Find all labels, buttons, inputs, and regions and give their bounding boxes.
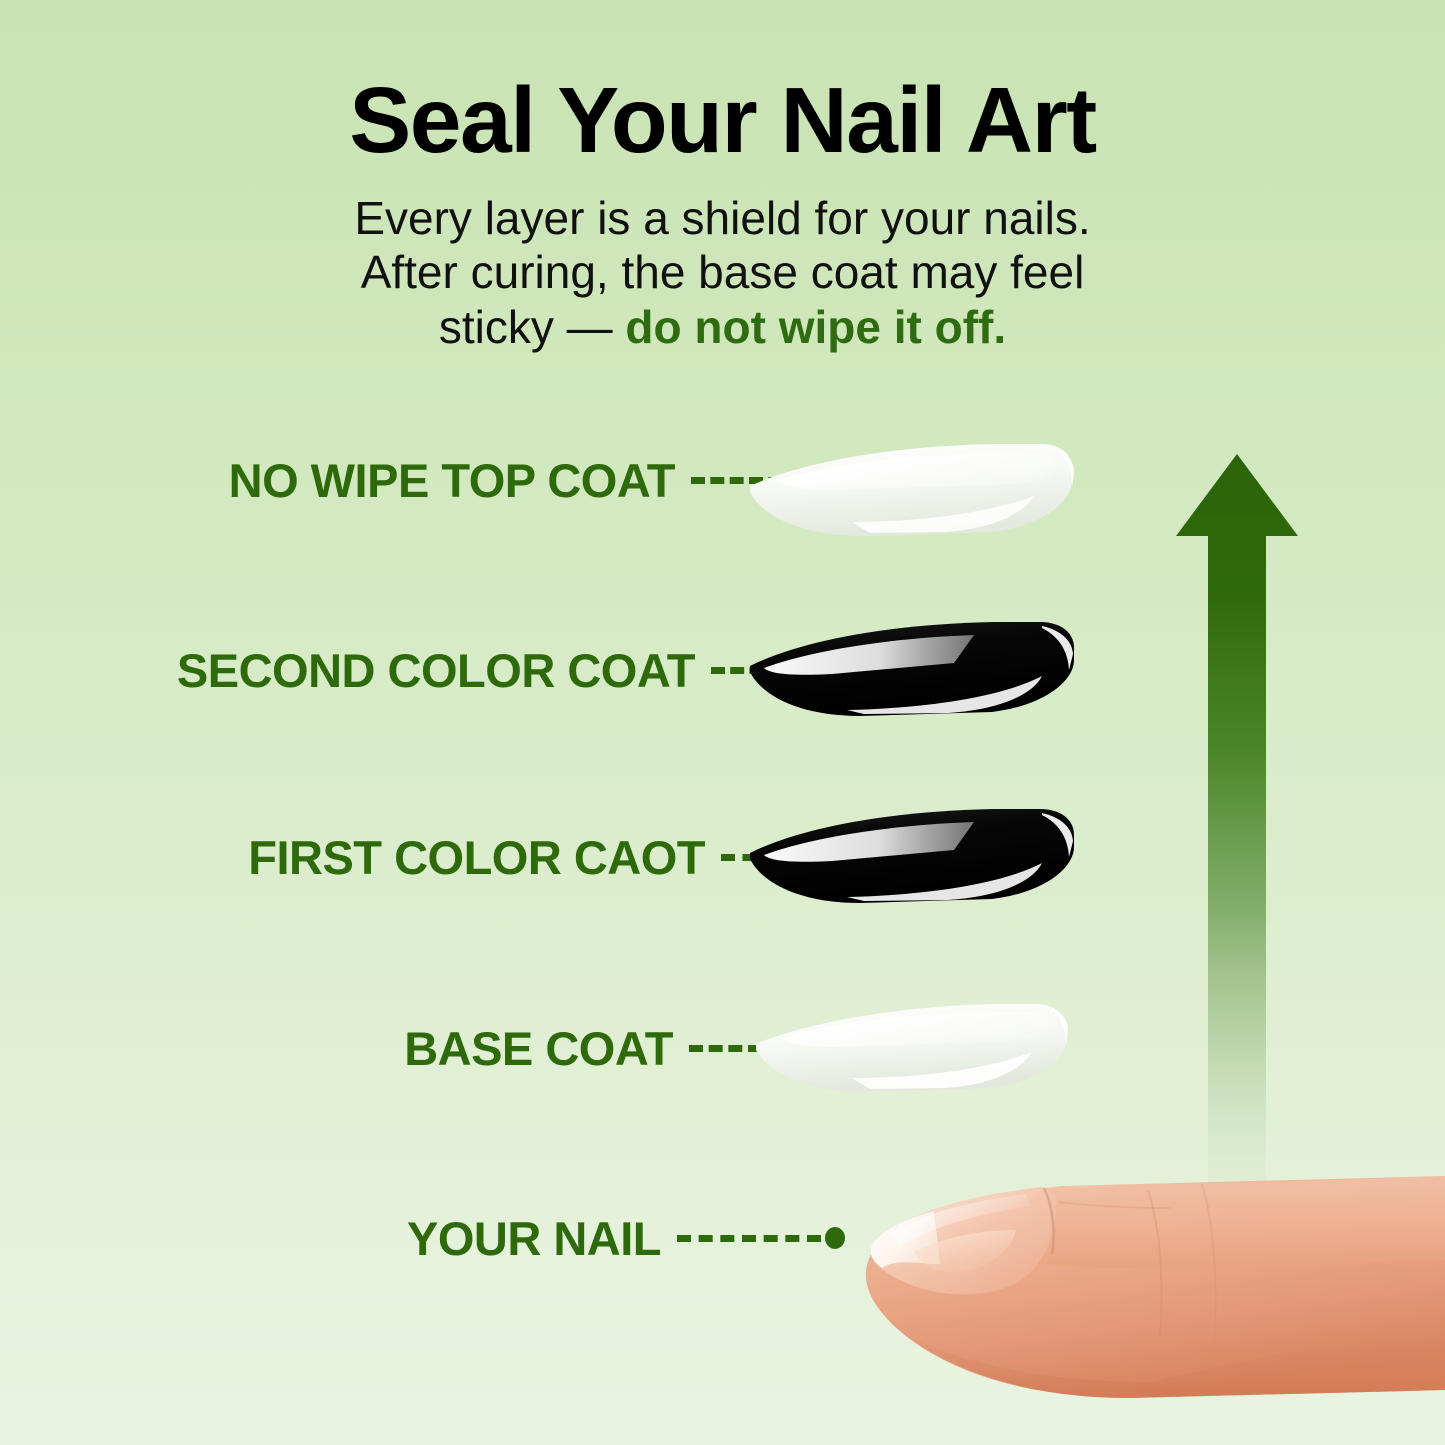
nail-swatch-first-color-coat <box>742 805 1082 915</box>
fingertip-photo <box>830 1168 1445 1445</box>
layer-label-first-color-coat: FIRST COLOR CAOT <box>248 834 705 881</box>
header: Seal Your Nail Art Every layer is a shie… <box>0 0 1445 354</box>
layer-row-second-color-coat: SECOND COLOR COAT <box>0 610 845 730</box>
layer-row-your-nail: YOUR NAIL <box>0 1178 845 1298</box>
layer-row-first-color-coat: FIRST COLOR CAOT <box>0 797 845 917</box>
infographic-canvas: Seal Your Nail Art Every layer is a shie… <box>0 0 1445 1445</box>
subtitle: Every layer is a shield for your nails. … <box>0 167 1445 354</box>
subtitle-line-2: After curing, the base coat may feel <box>361 246 1085 298</box>
layer-label-your-nail: YOUR NAIL <box>407 1215 661 1262</box>
subtitle-line-3-prefix: sticky — <box>439 301 626 353</box>
dashed-line <box>677 1235 821 1242</box>
leader-line-your-nail <box>677 1231 845 1245</box>
subtitle-line-1: Every layer is a shield for your nails. <box>354 192 1090 244</box>
layer-label-second-color-coat: SECOND COLOR COAT <box>177 647 695 694</box>
nail-swatch-base-coat <box>752 1000 1072 1105</box>
layer-row-base-coat: BASE COAT <box>0 988 845 1108</box>
page-title: Seal Your Nail Art <box>0 0 1445 167</box>
upward-progress-arrow <box>1150 440 1340 1240</box>
layer-label-base-coat: BASE COAT <box>404 1025 673 1072</box>
layer-label-no-wipe-top-coat: NO WIPE TOP COAT <box>229 457 675 504</box>
nail-swatch-second-color-coat <box>742 618 1082 728</box>
arrow-shape <box>1176 454 1298 1240</box>
subtitle-highlight: do not wipe it off. <box>625 301 1006 353</box>
nail-swatch-no-wipe-top-coat <box>742 440 1082 550</box>
layer-row-no-wipe-top-coat: NO WIPE TOP COAT <box>0 420 845 540</box>
